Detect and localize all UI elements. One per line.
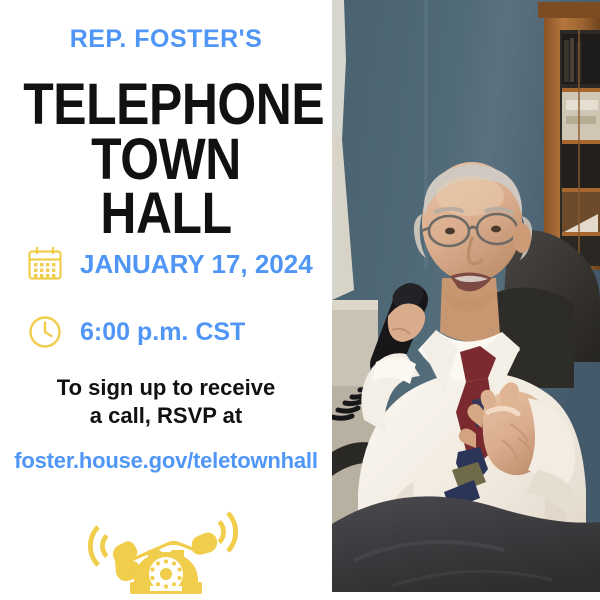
bookcase (538, 2, 600, 270)
rsvp-url[interactable]: foster.house.gov/teletownhall (0, 448, 332, 474)
event-time-text: 6:00 p.m. CST (80, 320, 245, 345)
rsvp-line-1: To sign up to receive (57, 375, 275, 400)
telephone-town-hall-flyer: REP. FOSTER'S TELEPHONE TOWN HALL (0, 0, 600, 600)
eyebrow-text: REP. FOSTER'S (0, 27, 332, 52)
text-panel: REP. FOSTER'S TELEPHONE TOWN HALL (0, 0, 332, 600)
page-title: TELEPHONE TOWN HALL (23, 78, 309, 240)
rsvp-line-2: a call, RSVP at (0, 402, 332, 430)
clock-icon (24, 311, 66, 353)
representative-photo (332, 0, 600, 600)
event-date-text: JANUARY 17, 2024 (80, 251, 313, 277)
event-time-row: 6:00 p.m. CST (24, 311, 245, 353)
calendar-icon (24, 243, 66, 285)
headline-line-2: TOWN HALL (23, 133, 309, 240)
headline-line-1: TELEPHONE (23, 78, 309, 131)
event-date-row: JANUARY 17, 2024 (24, 243, 313, 285)
ringing-telephone-icon (76, 498, 256, 594)
rsvp-instructions: To sign up to receive a call, RSVP at (0, 374, 332, 430)
